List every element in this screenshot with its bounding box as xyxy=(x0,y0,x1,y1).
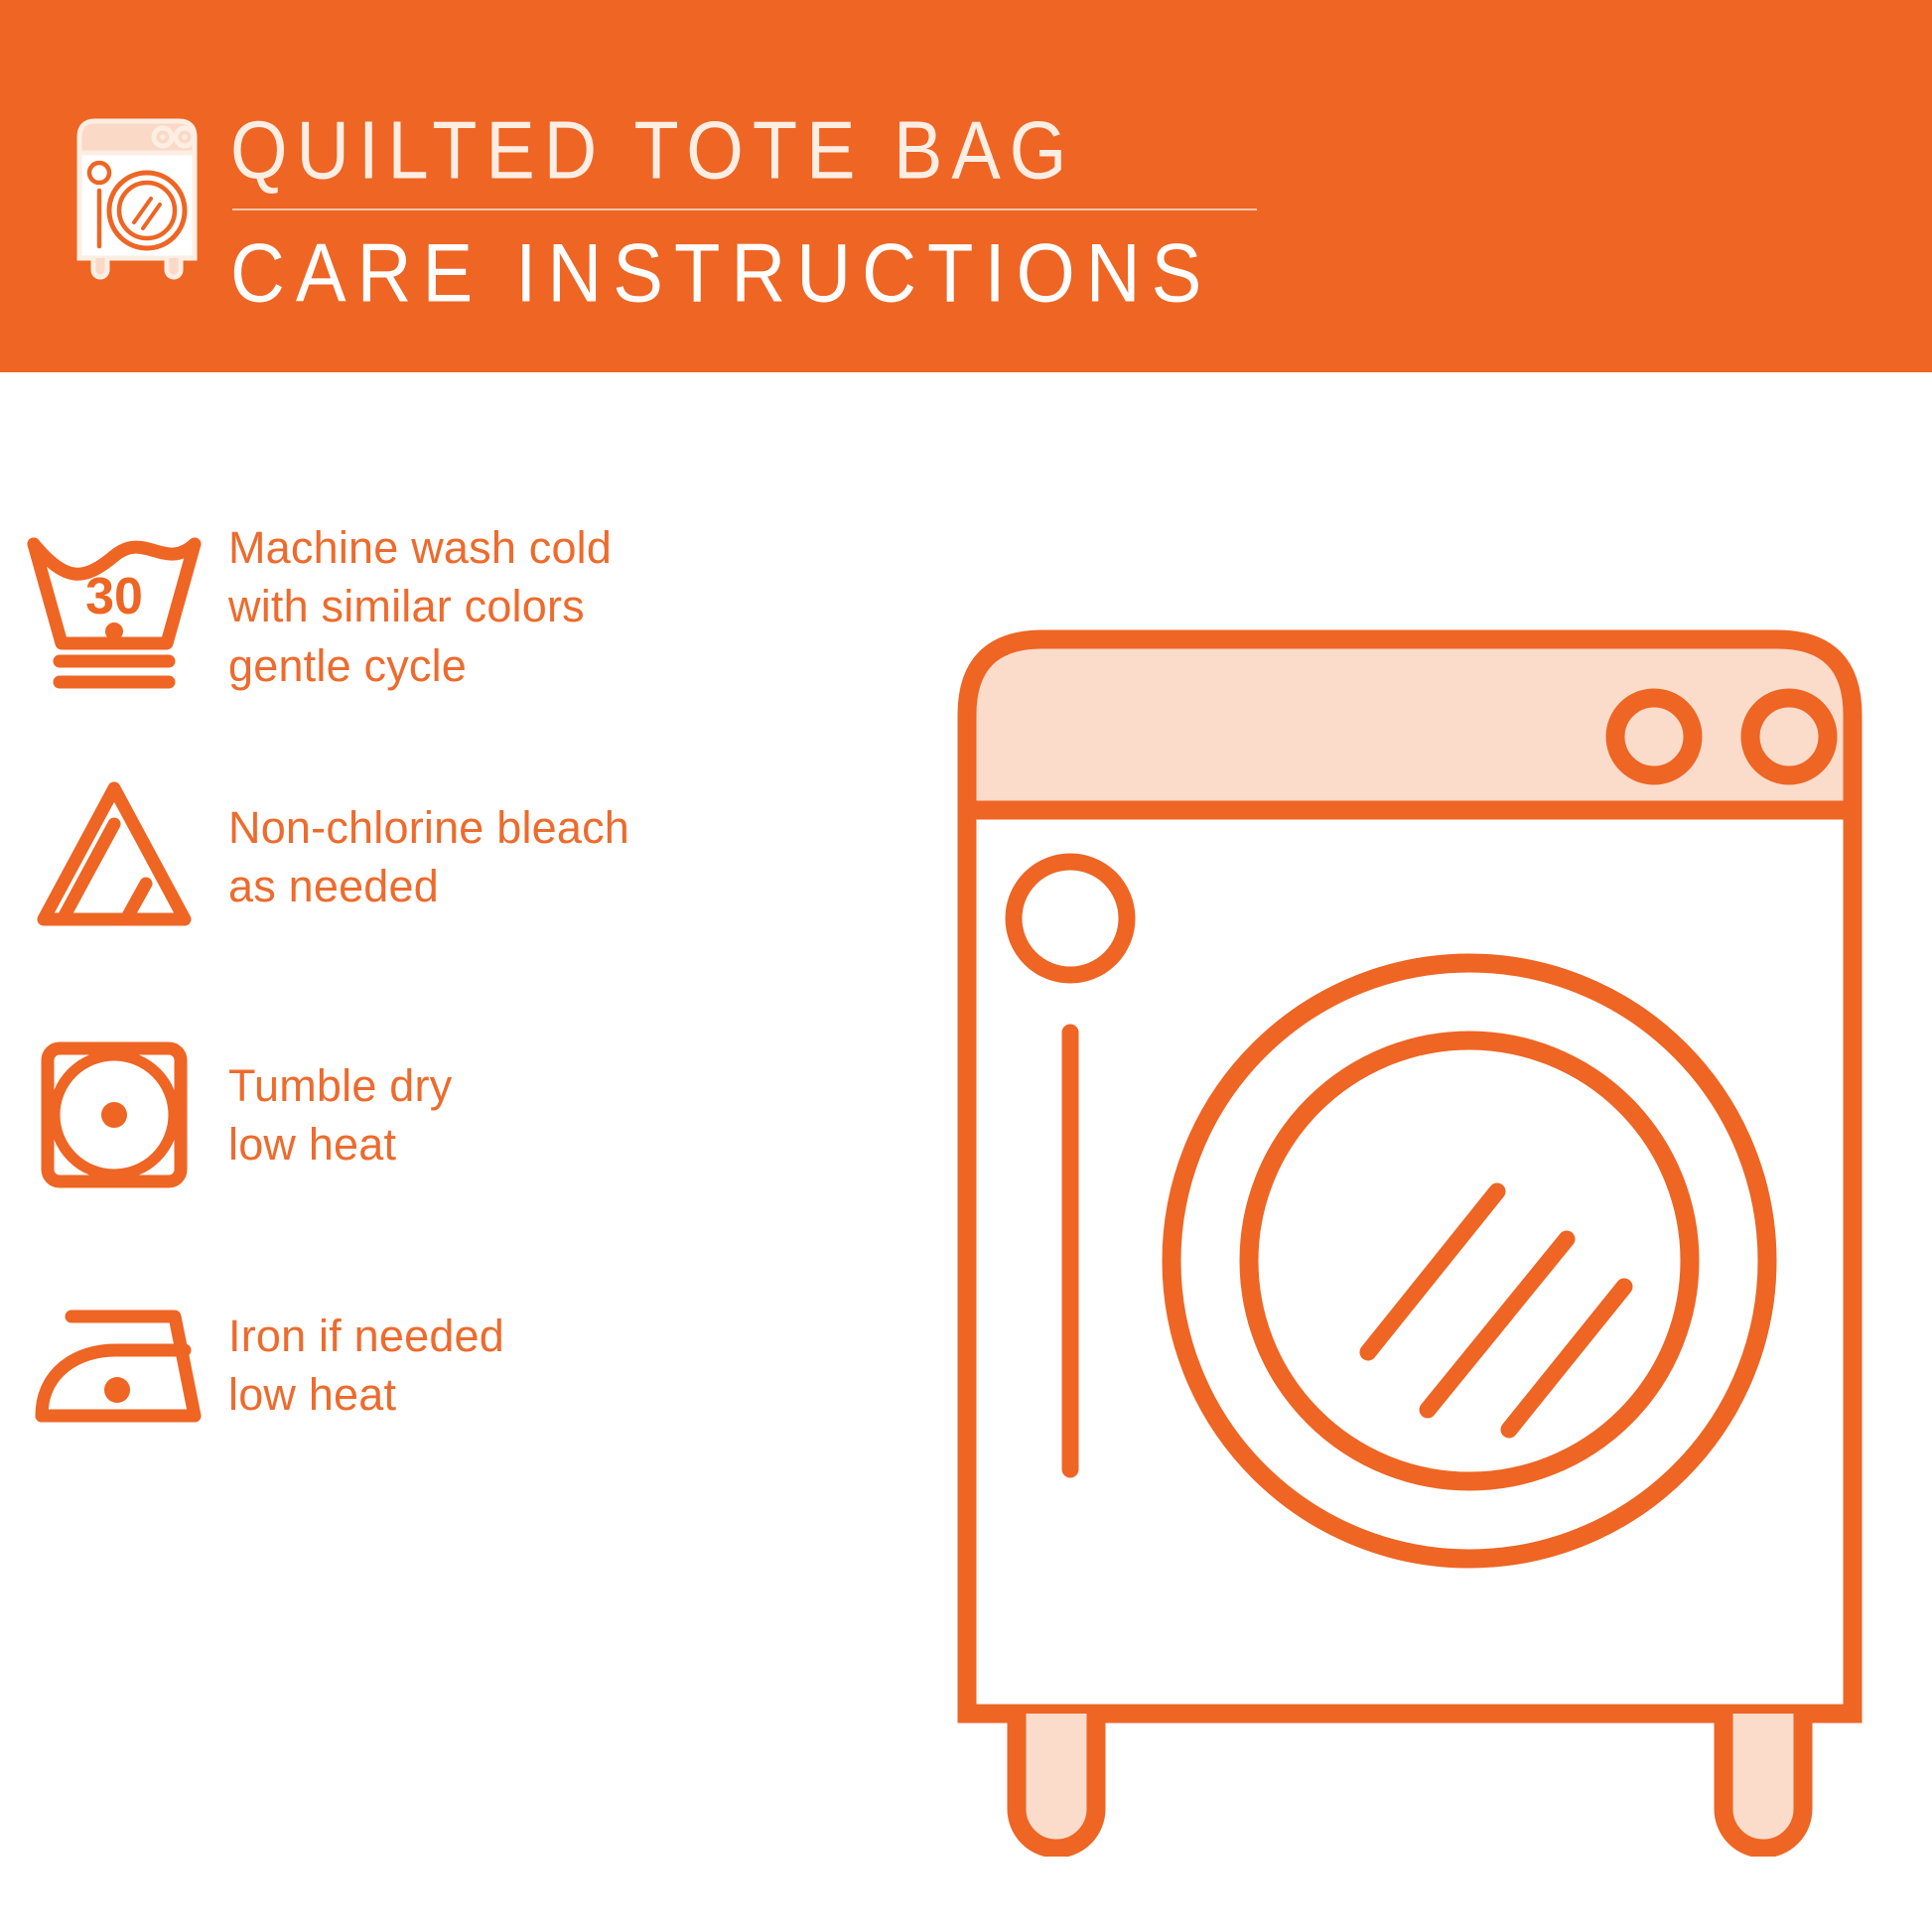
header-text-block: QUILTED TOTE BAG CARE INSTRUCTIONS xyxy=(230,107,1257,308)
title-divider xyxy=(232,208,1257,210)
washer-leg-right xyxy=(1724,1714,1803,1849)
washer-knob-left xyxy=(1615,698,1693,775)
header-banner: QUILTED TOTE BAG CARE INSTRUCTIONS xyxy=(0,0,1932,372)
bleach-triangle-non-chlorine-icon xyxy=(0,772,228,941)
washing-machine-illustration xyxy=(953,616,1866,1857)
care-row-iron: Iron if needed low heat xyxy=(0,1281,504,1449)
care-label-tumble-dry: Tumble dry low heat xyxy=(228,1056,452,1174)
page-title: QUILTED TOTE BAG xyxy=(230,109,1257,192)
iron-low-heat-icon xyxy=(0,1281,228,1449)
washing-machine-icon xyxy=(71,107,203,281)
care-label-bleach: Non-chlorine bleach as needed xyxy=(228,798,629,916)
care-row-machine-wash: 30 Machine wash cold with similar colors… xyxy=(0,518,612,695)
page-subtitle: CARE INSTRUCTIONS xyxy=(230,232,1257,316)
header-content: QUILTED TOTE BAG CARE INSTRUCTIONS xyxy=(71,107,1257,308)
care-row-tumble-dry: Tumble dry low heat xyxy=(0,1031,452,1199)
wash-tub-30-gentle-icon: 30 xyxy=(0,522,228,691)
care-label-machine-wash: Machine wash cold with similar colors ge… xyxy=(228,518,612,695)
care-row-bleach: Non-chlorine bleach as needed xyxy=(0,772,629,941)
care-label-iron: Iron if needed low heat xyxy=(228,1307,504,1425)
washer-control-panel xyxy=(967,639,1853,810)
washer-leg-left xyxy=(1017,1714,1096,1849)
wash-temperature-value: 30 xyxy=(85,568,143,625)
washer-body xyxy=(967,810,1853,1714)
washer-knob-right xyxy=(1750,698,1828,775)
tumble-dry-low-heat-icon xyxy=(0,1031,228,1199)
